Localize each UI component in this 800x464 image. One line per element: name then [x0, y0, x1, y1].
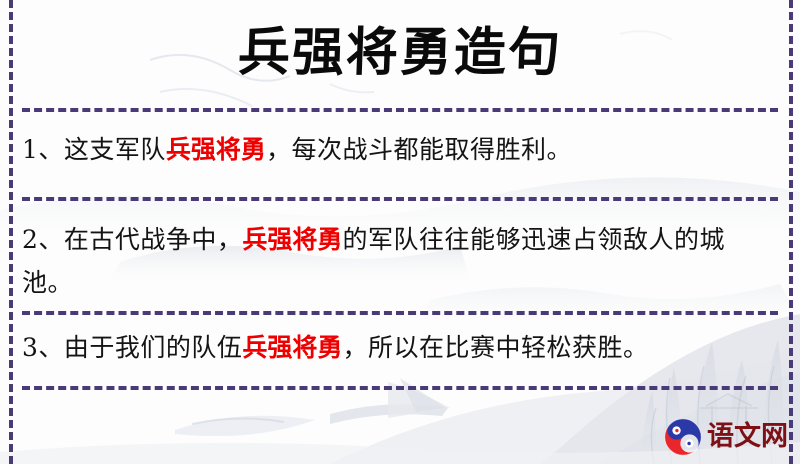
watermark: 语文网 [664, 418, 788, 456]
divider-3 [22, 311, 778, 315]
idiom-highlight-3: 兵强将勇 [242, 333, 342, 362]
sentence-item-2: 2、在古代战争中，兵强将勇的军队往往能够迅速占领敌人的城池。 [22, 218, 774, 304]
divider-2 [22, 197, 778, 201]
watermark-text: 语文网 [707, 418, 788, 456]
idiom-highlight-1: 兵强将勇 [166, 135, 266, 164]
page-border-right [789, 0, 793, 464]
sentence-text-before-2: 在古代战争中， [64, 225, 243, 254]
sentence-number-2: 2、 [22, 225, 64, 254]
page-canvas: 兵强将勇造句 1、这支军队兵强将勇，每次战斗都能取得胜利。 2、在古代战争中，兵… [0, 0, 800, 464]
idiom-highlight-2: 兵强将勇 [242, 225, 342, 254]
sentence-item-1: 1、这支军队兵强将勇，每次战斗都能取得胜利。 [22, 128, 774, 171]
page-title: 兵强将勇造句 [0, 20, 800, 85]
sentence-text-before-1: 这支军队 [64, 135, 166, 164]
sentence-text-after-1: ，每次战斗都能取得胜利。 [266, 135, 572, 164]
sentence-number-3: 3、 [22, 333, 64, 362]
page-border-left [9, 0, 13, 464]
yuwen-taiji-logo-icon [664, 418, 702, 456]
sentence-item-3: 3、由于我们的队伍兵强将勇，所以在比赛中轻松获胜。 [22, 326, 774, 369]
divider-1 [22, 108, 778, 112]
sentence-text-after-3: ，所以在比赛中轻松获胜。 [342, 333, 648, 362]
divider-4 [22, 386, 778, 390]
sentence-number-1: 1、 [22, 135, 64, 164]
sentence-text-before-3: 由于我们的队伍 [64, 333, 243, 362]
